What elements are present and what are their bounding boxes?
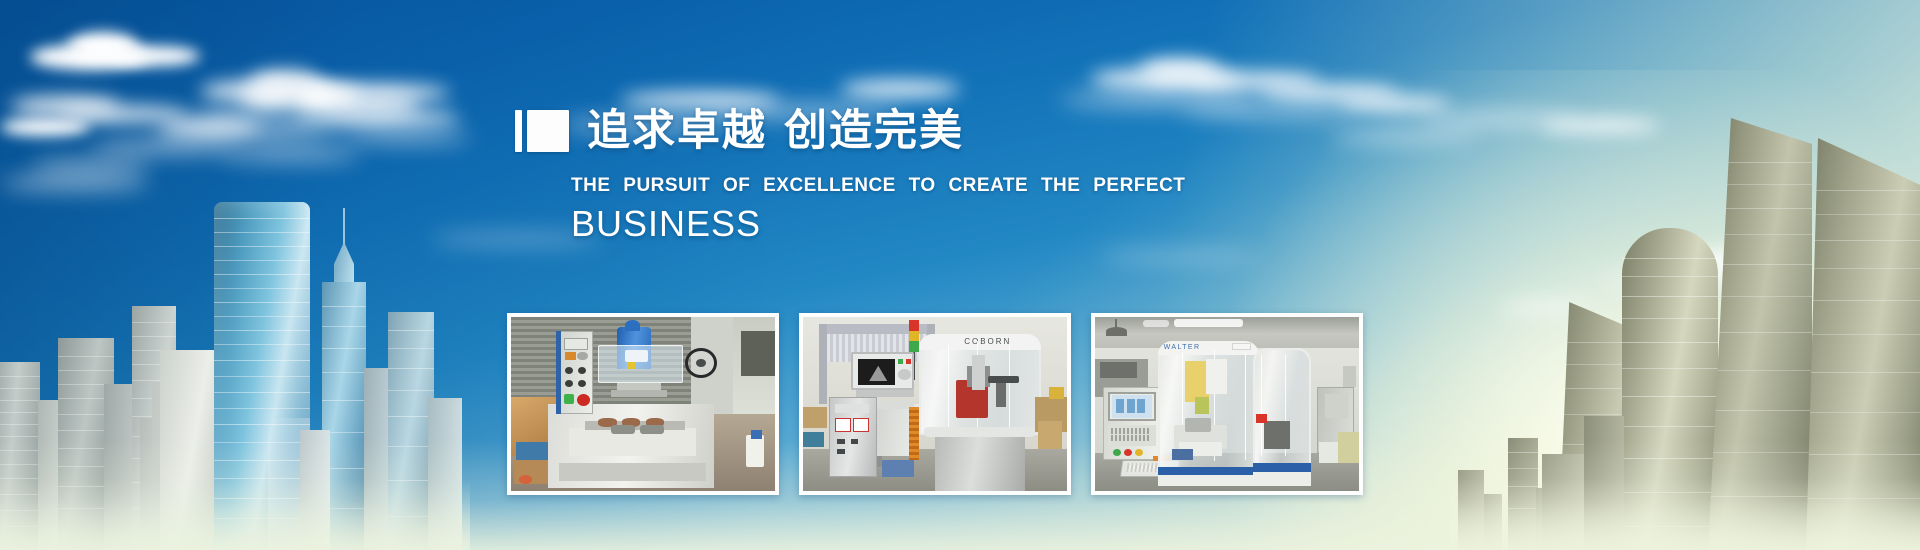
banner-text-block: 追求卓越 创造完美 THE PURSUIT OF EXCELLENCE TO C… [515, 104, 1185, 242]
machine-photo-2[interactable]: COBORN [799, 313, 1071, 495]
hero-banner: 追求卓越 创造完美 THE PURSUIT OF EXCELLENCE TO C… [0, 0, 1920, 550]
logo-bar-icon [515, 110, 522, 152]
spire-tower-crown [334, 242, 354, 282]
logo-square-icon [527, 110, 569, 152]
machine-brand-walter: WALTER [1164, 344, 1233, 353]
subtitle-english: THE PURSUIT OF EXCELLENCE TO CREATE THE … [571, 175, 1185, 197]
business-word: BUSINESS [571, 206, 1185, 242]
spire-antenna [343, 208, 345, 244]
machine-brand-coborn: COBORN [951, 338, 1025, 348]
headline-chinese: 追求卓越 创造完美 [587, 110, 964, 153]
machine-photo-3[interactable]: WALTER [1091, 313, 1363, 495]
machine-photo-strip: COBORN [507, 313, 1363, 495]
bar-square-logo-mark-icon [515, 110, 569, 152]
headline-row: 追求卓越 创造完美 [515, 104, 1185, 158]
machine-photo-1[interactable] [507, 313, 779, 495]
